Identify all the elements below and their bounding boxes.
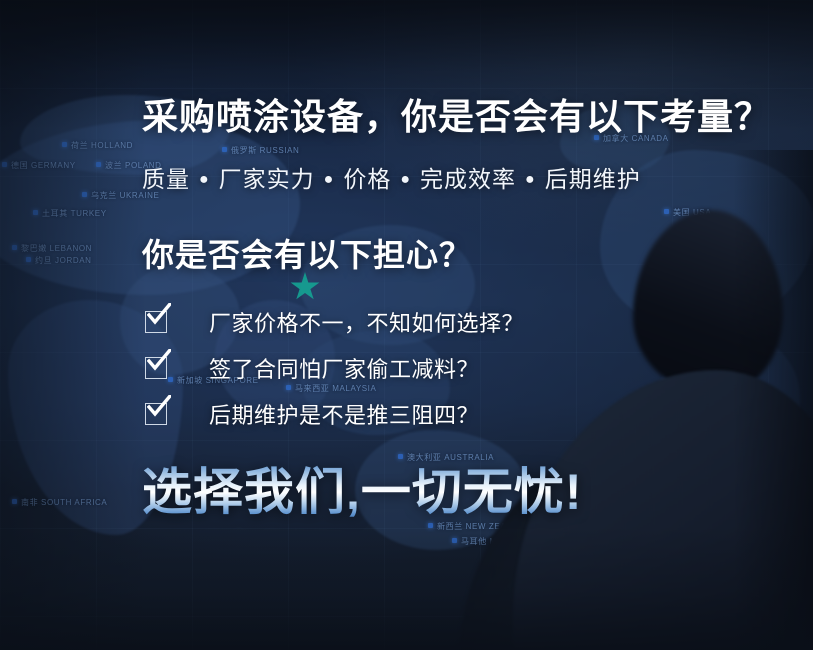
headline-secondary: 你是否会有以下担心？	[142, 230, 472, 276]
feature-item: 质量	[142, 166, 190, 192]
bullet-separator-icon: ●	[324, 171, 335, 189]
checkbox-checked-icon	[145, 311, 167, 333]
checklist-item: 后期维护是不是推三阻四？	[145, 395, 615, 433]
headline-primary: 采购喷涂设备，你是否会有以下考量？	[142, 88, 771, 140]
checklist-item-label: 后期维护是不是推三阻四？	[209, 398, 479, 430]
feature-item: 价格	[343, 166, 391, 192]
promo-banner: 荷兰 HOLLAND德国 GERMANY波兰 POLAND乌克兰 UKRAINE…	[0, 0, 813, 650]
checkbox-checked-icon	[145, 403, 167, 425]
bullet-separator-icon: ●	[400, 171, 411, 189]
bullet-separator-icon: ●	[199, 171, 210, 189]
checklist-item-label: 厂家价格不一，不知如何选择？	[209, 306, 524, 338]
checklist-item: 签了合同怕厂家偷工减料？	[145, 349, 615, 387]
feature-list: 质量●厂家实力●价格●完成效率●后期维护	[142, 160, 641, 194]
slogan-text: 选择我们,一切无忧!	[142, 452, 583, 524]
checkbox-checked-icon	[145, 357, 167, 379]
bullet-separator-icon: ●	[525, 171, 536, 189]
checklist-item-label: 签了合同怕厂家偷工减料？	[209, 352, 479, 384]
feature-item: 完成效率	[420, 166, 516, 192]
concerns-checklist: 厂家价格不一，不知如何选择？签了合同怕厂家偷工减料？后期维护是不是推三阻四？	[145, 303, 615, 441]
banner-content: 采购喷涂设备，你是否会有以下考量？ 质量●厂家实力●价格●完成效率●后期维护 你…	[0, 0, 813, 650]
feature-item: 厂家实力	[219, 166, 315, 192]
feature-item: 后期维护	[545, 166, 641, 192]
checklist-item: 厂家价格不一，不知如何选择？	[145, 303, 615, 341]
